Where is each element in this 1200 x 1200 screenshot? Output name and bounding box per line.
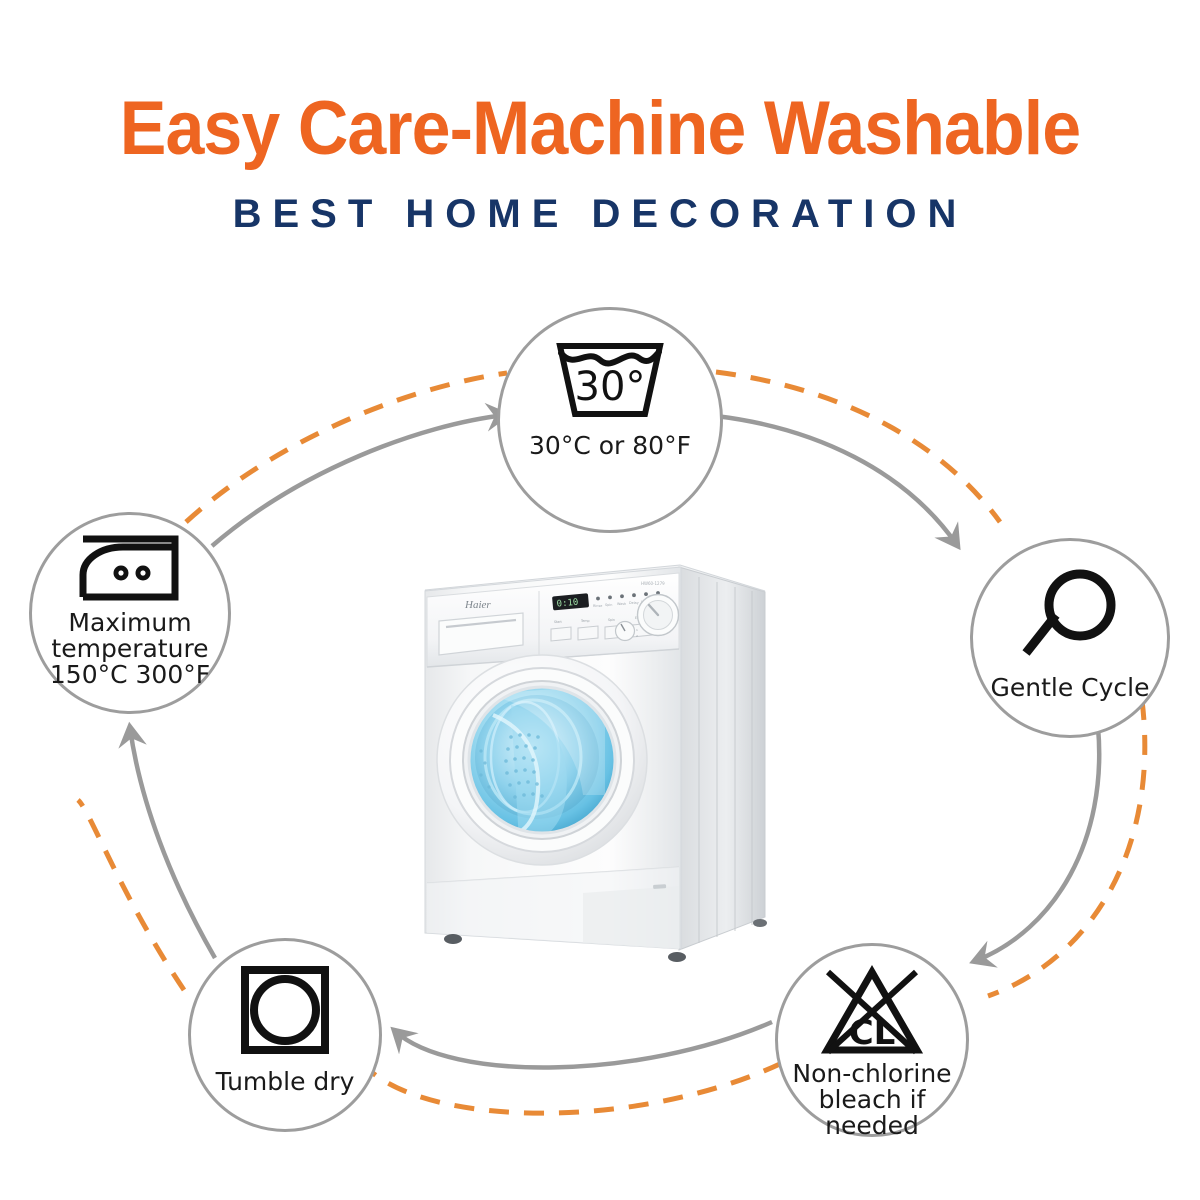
dash-iron-to-wash — [186, 373, 507, 522]
svg-text:2: 2 — [636, 634, 638, 638]
badge-wash-30[interactable]: 30° 30°C or 80°F — [497, 307, 723, 533]
arrow-wash-to-gentle — [716, 416, 957, 545]
svg-text:Delay: Delay — [629, 601, 639, 605]
badge-non-chlorine-bleach[interactable]: CL Non-chlorine bleach if needed — [775, 943, 969, 1137]
iron-two-dots-icon — [71, 533, 189, 605]
badge-bleach-label: Non-chlorine bleach if needed — [792, 1061, 951, 1139]
care-flow-diagram: Haier 0:10 RinseSpin WashDelay LockEnd — [0, 0, 1200, 1200]
badge-gentle-label: Gentle Cycle — [991, 675, 1150, 701]
poster-canvas: Easy Care-Machine Washable BEST HOME DEC… — [0, 0, 1200, 1200]
washing-machine-image: Haier 0:10 RinseSpin WashDelay LockEnd — [415, 545, 775, 1000]
svg-text:Wash: Wash — [617, 602, 626, 606]
svg-text:Spin: Spin — [608, 618, 615, 622]
dash-tumble-to-iron — [78, 800, 184, 990]
badge-wash-label: 30°C or 80°F — [529, 433, 691, 459]
svg-text:30°: 30° — [575, 364, 646, 410]
svg-text:Start: Start — [554, 620, 563, 624]
dash-gentle-to-bleach — [988, 700, 1145, 996]
dash-bleach-to-tumble — [367, 1063, 782, 1113]
dash-wash-to-gentle — [716, 372, 1000, 522]
washer-display-text: 0:10 — [556, 598, 579, 610]
gentle-cycle-circle-bar-icon — [1012, 567, 1128, 665]
arrow-gentle-to-bleach — [975, 727, 1099, 961]
washer-brand-text: Haier — [464, 599, 491, 611]
no-chlorine-bleach-triangle-icon: CL — [817, 964, 927, 1058]
arrow-iron-to-wash — [212, 415, 505, 546]
washer-model-text: HW60-1279 — [641, 581, 665, 586]
badge-gentle-cycle[interactable]: Gentle Cycle — [970, 538, 1170, 738]
svg-text:Spin: Spin — [605, 603, 612, 607]
badge-iron-temperature[interactable]: Maximum temperature 150°C 300°F — [29, 512, 231, 714]
svg-text:Temp: Temp — [580, 619, 590, 623]
badge-iron-label: Maximum temperature 150°C 300°F — [50, 610, 210, 688]
wash-tub-30-icon: 30° — [550, 336, 670, 424]
badge-tumble-label: Tumble dry — [216, 1069, 355, 1095]
svg-text:CL: CL — [849, 1013, 896, 1053]
badge-tumble-dry[interactable]: Tumble dry — [188, 938, 382, 1132]
tumble-dry-square-circle-icon — [238, 963, 332, 1057]
svg-text:Rinse: Rinse — [593, 604, 602, 608]
svg-text:1: 1 — [636, 628, 638, 632]
arrow-bleach-to-tumble — [395, 1022, 772, 1067]
